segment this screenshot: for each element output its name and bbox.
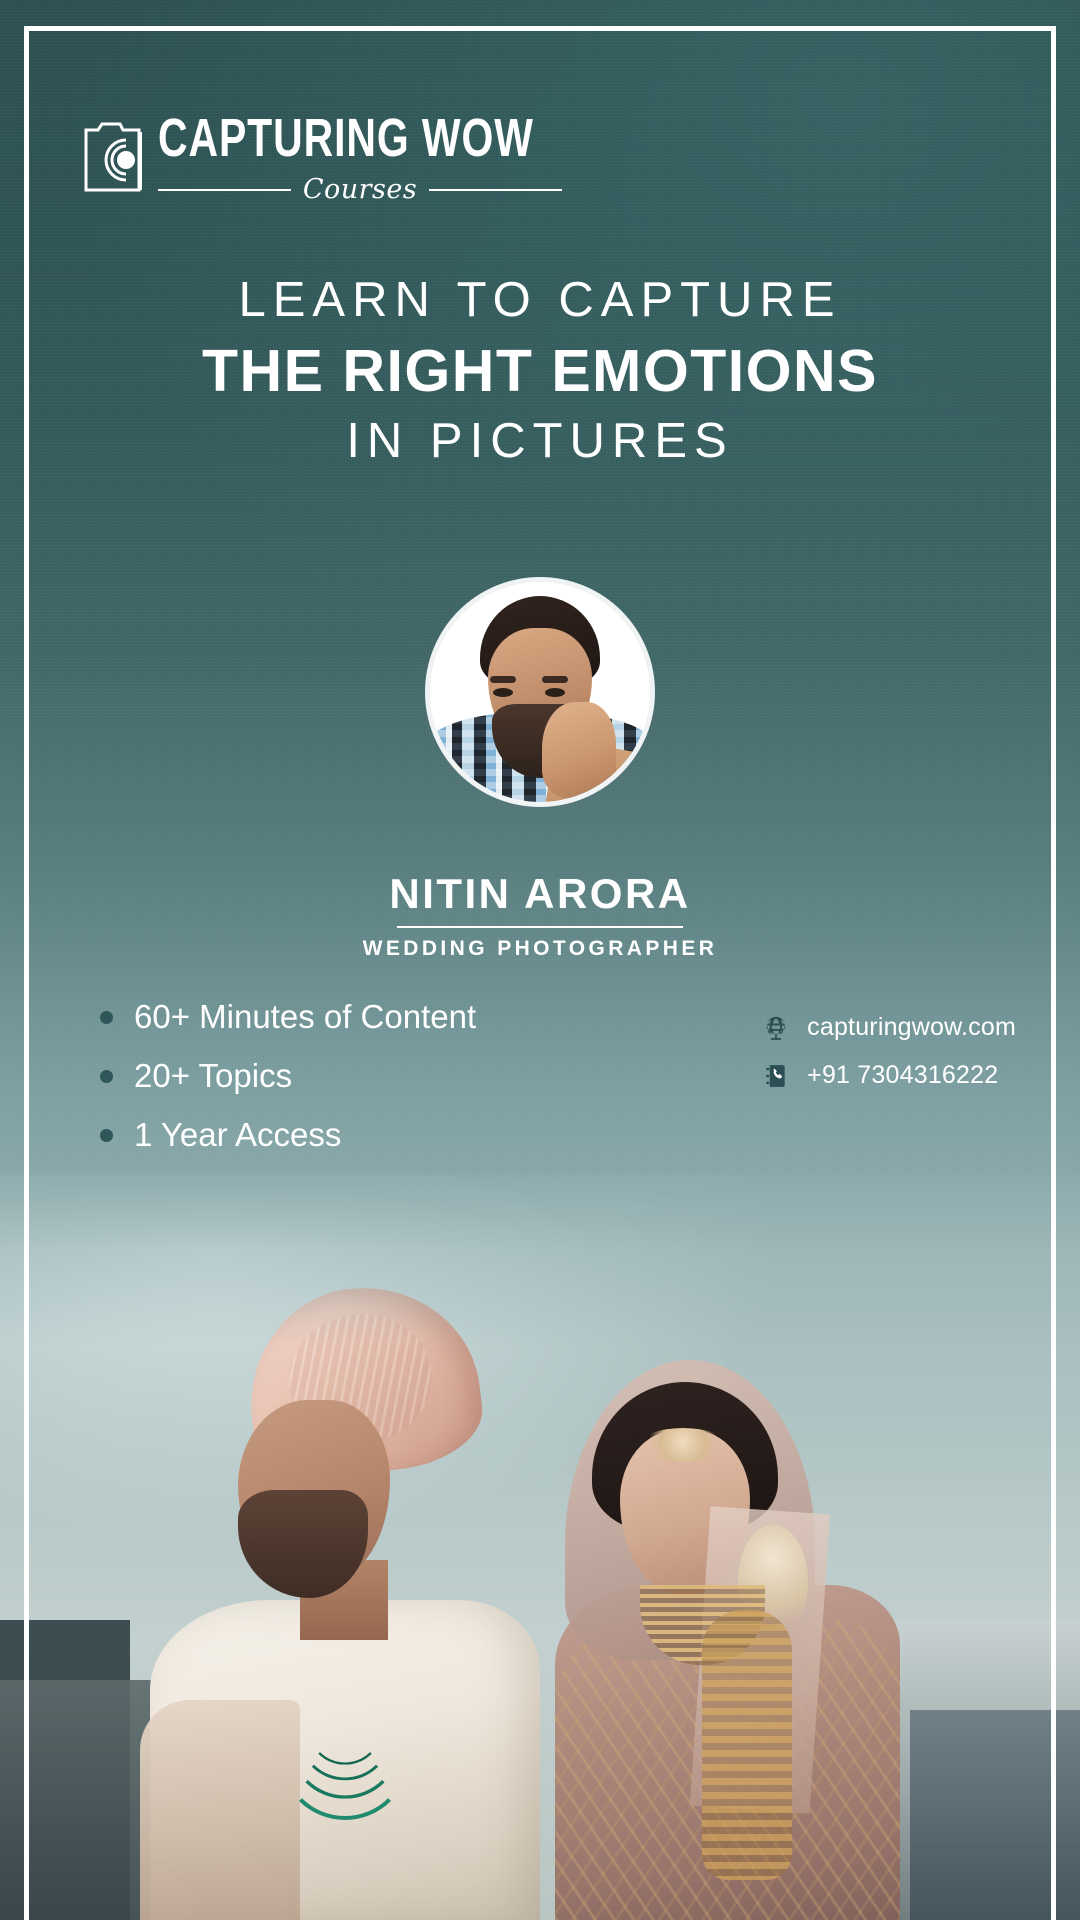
globe-icon <box>763 1015 789 1041</box>
phone-book-icon <box>763 1063 789 1089</box>
brand-sub: Courses <box>303 174 417 205</box>
headline-block: LEARN TO CAPTURE THE RIGHT EMOTIONS IN P… <box>0 272 1080 471</box>
hero-photo <box>0 1175 1080 1920</box>
feature-list: 60+ Minutes of Content 20+ Topics 1 Year… <box>96 1000 476 1151</box>
headline-line-3: IN PICTURES <box>0 413 1080 471</box>
contact-website-row[interactable]: capturingwow.com <box>763 1013 1016 1042</box>
camera-lens-icon <box>82 114 144 196</box>
bride-maang-tikka <box>640 1428 726 1462</box>
list-item: 1 Year Access <box>96 1118 476 1151</box>
brand-sub-row: Courses <box>158 174 562 205</box>
name-divider <box>397 926 683 928</box>
avatar-eye-right <box>545 688 565 697</box>
brand-logo[interactable]: CAPTURING WOW Courses <box>82 112 562 205</box>
instructor-role: WEDDING PHOTOGRAPHER <box>0 937 1080 961</box>
info-bar: 60+ Minutes of Content 20+ Topics 1 Year… <box>0 1000 1080 1151</box>
brand-name: CAPTURING WOW <box>158 112 534 166</box>
instructor-name: NITIN ARORA <box>0 872 1080 916</box>
brand-rule-left <box>158 189 291 191</box>
brand-rule-right <box>429 189 562 191</box>
avatar-brow-left <box>490 676 516 683</box>
headline-line-1: LEARN TO CAPTURE <box>0 272 1080 330</box>
avatar-hand <box>542 702 616 798</box>
bride-kaleere <box>702 1610 792 1880</box>
bride-figure <box>520 1360 940 1920</box>
groom-figure <box>130 1280 550 1920</box>
contact-block: capturingwow.com +91 7304316222 <box>763 1013 1016 1090</box>
avatar-image <box>430 582 650 802</box>
brand-logo-text: CAPTURING WOW Courses <box>158 112 562 205</box>
contact-phone: +91 7304316222 <box>807 1061 998 1090</box>
contact-website: capturingwow.com <box>807 1013 1016 1042</box>
contact-phone-row[interactable]: +91 7304316222 <box>763 1061 1016 1090</box>
groom-shawl <box>140 1700 300 1920</box>
instructor-name-block: NITIN ARORA WEDDING PHOTOGRAPHER <box>0 872 1080 961</box>
poster-canvas: CAPTURING WOW Courses LEARN TO CAPTURE T… <box>0 0 1080 1920</box>
headline-line-2: THE RIGHT EMOTIONS <box>0 337 1080 407</box>
groom-green-necklace <box>280 1640 410 1820</box>
avatar <box>430 582 650 802</box>
avatar-brow-right <box>542 676 568 683</box>
list-item: 20+ Topics <box>96 1059 476 1092</box>
list-item: 60+ Minutes of Content <box>96 1000 476 1033</box>
avatar-eye-left <box>493 688 513 697</box>
